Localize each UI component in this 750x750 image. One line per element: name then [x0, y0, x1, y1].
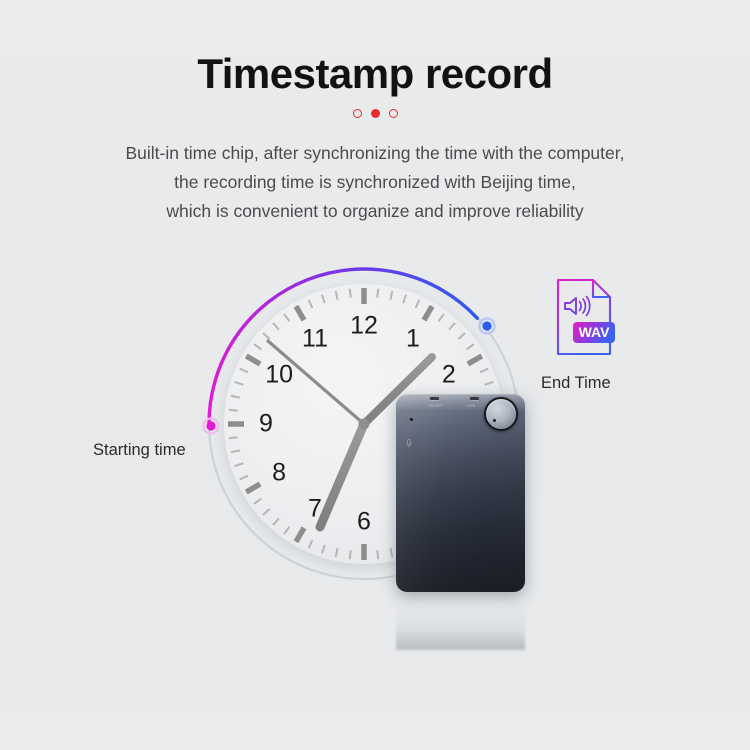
starting-time-label: Starting time [93, 441, 186, 460]
clock-minute-tick [377, 550, 378, 559]
voice-recorder-device[interactable]: ON-OFF VOR [396, 394, 525, 592]
start-time-marker[interactable] [204, 419, 219, 434]
clock-numeral-6: 6 [357, 508, 371, 536]
device-switch-slot-power[interactable] [430, 397, 439, 400]
clock-minute-tick [377, 289, 378, 298]
device-microphone-icon [406, 438, 412, 450]
clock-center-pivot [359, 419, 370, 430]
device-label-on-off: ON-OFF [428, 404, 443, 408]
wav-badge-label: WAV [579, 324, 611, 340]
clock-numeral-2: 2 [442, 361, 456, 389]
clock-minute-tick [229, 410, 238, 411]
device-indicator-led [410, 418, 413, 421]
clock-numeral-8: 8 [272, 459, 286, 487]
clock-numeral-12: 12 [350, 312, 378, 340]
end-time-label: End Time [541, 374, 611, 393]
clock-minute-tick [350, 550, 351, 559]
device-dial-notch [493, 419, 496, 422]
page-background: Timestamp record Built-in time chip, aft… [0, 0, 750, 750]
device-label-vor: VOR [467, 404, 475, 408]
clock-minute-tick [229, 437, 238, 438]
clock-numeral-1: 1 [406, 325, 420, 353]
device-rotary-dial[interactable] [484, 397, 518, 431]
clock-numeral-9: 9 [259, 410, 273, 438]
clock-numeral-10: 10 [265, 361, 293, 389]
wav-audio-file-icon[interactable]: WAV [553, 277, 615, 357]
clock-minute-tick [350, 289, 351, 298]
device-switch-slot-vor[interactable] [470, 397, 479, 400]
speaker-waves-icon [565, 297, 590, 316]
clock-illustration: 121234567891011 [0, 0, 750, 750]
clock-numeral-11: 11 [302, 325, 328, 353]
